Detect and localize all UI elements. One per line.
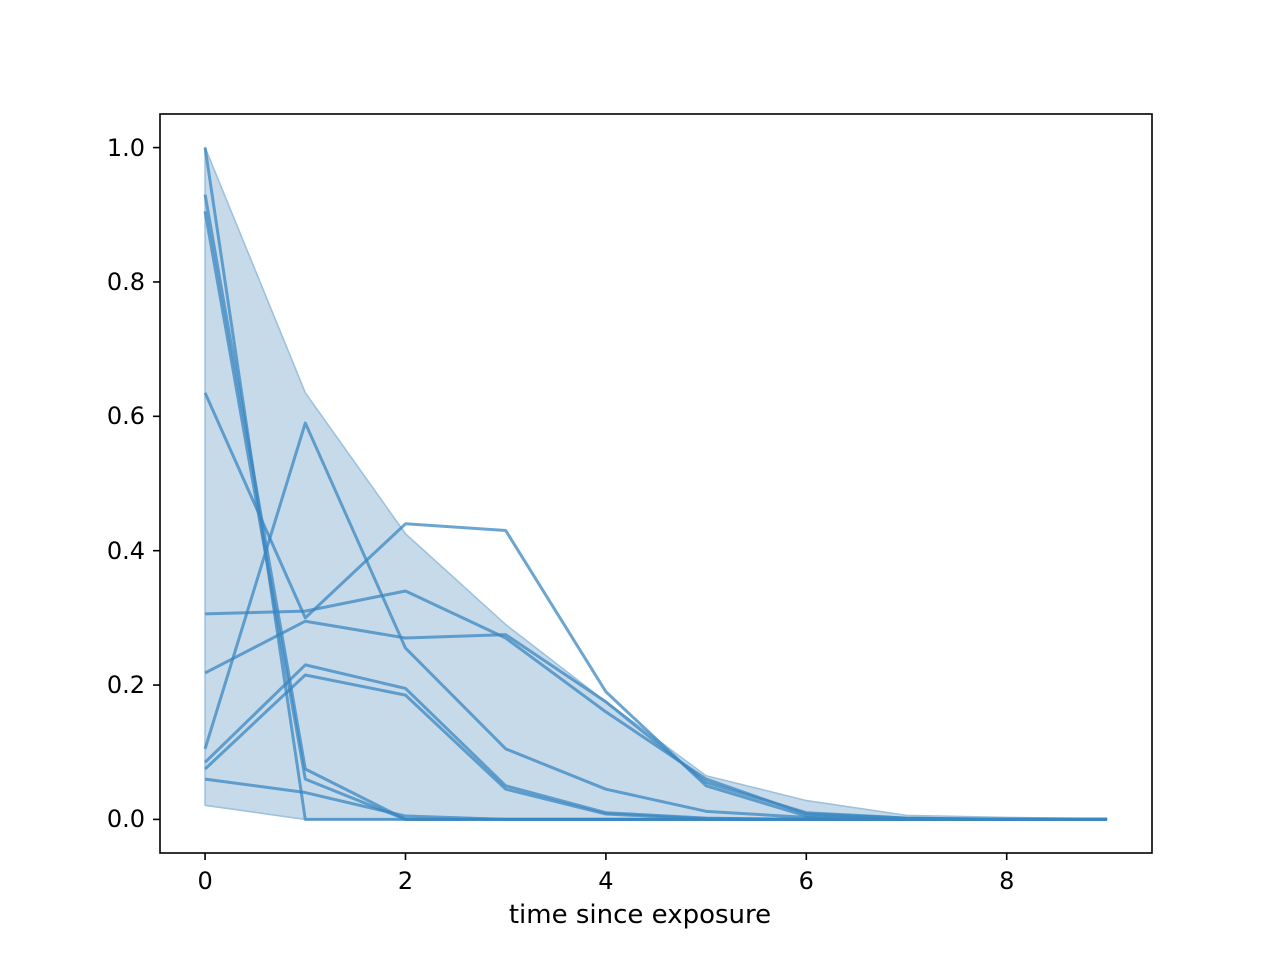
matplotlib-figure: 0.00.20.40.60.81.0 02468 time since expo… [0,0,1280,960]
y-tick-label: 1.0 [40,134,145,162]
band-polygon [205,148,1107,820]
y-tick-label: 0.0 [40,805,145,833]
y-tick-label: 0.8 [40,268,145,296]
x-tick-label: 2 [398,867,413,895]
y-tick-label: 0.2 [40,671,145,699]
x-tick-label: 8 [999,867,1014,895]
y-tick-label: 0.6 [40,402,145,430]
chart-canvas [0,0,1280,960]
x-tick-label: 0 [197,867,212,895]
x-tick-label: 4 [598,867,613,895]
confidence-band [205,148,1107,820]
x-tick-label: 6 [799,867,814,895]
x-axis-label: time since exposure [0,900,1280,930]
y-tick-label: 0.4 [40,537,145,565]
